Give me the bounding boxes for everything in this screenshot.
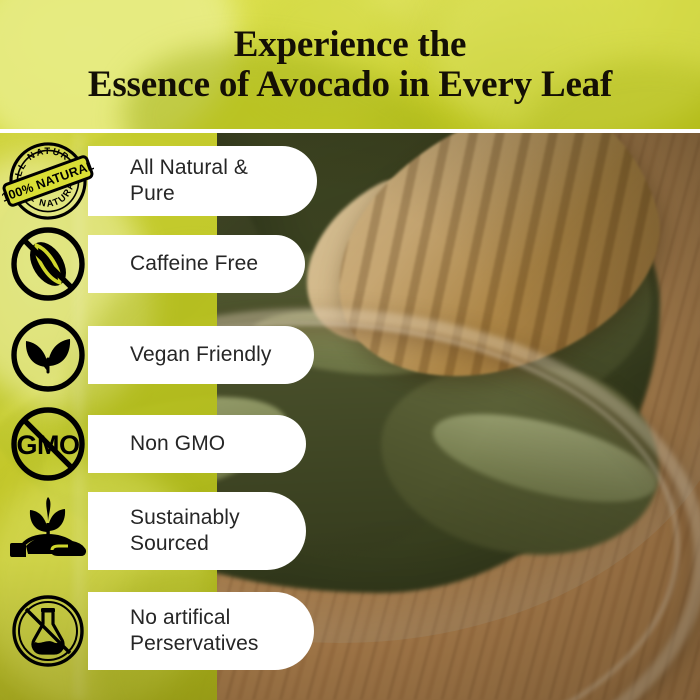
headline-line-2: Essence of Avocado in Every Leaf	[88, 65, 612, 104]
feature-list: ALL NATURAL ALL NATURAL 100% NATURAL All…	[0, 133, 700, 700]
feature-label: Caffeine Free	[130, 251, 258, 277]
feature-label: Sustainably Sourced	[130, 505, 240, 556]
feature-pill[interactable]: Non GMO	[88, 415, 306, 473]
feature-label: Non GMO	[130, 431, 225, 457]
feature-pill[interactable]: Caffeine Free	[88, 235, 305, 293]
feature-row-non-gmo[interactable]: GMO Non GMO	[0, 398, 330, 490]
feature-pill[interactable]: All Natural & Pure	[88, 146, 317, 215]
leaves-circle-icon	[0, 309, 96, 401]
feature-row-no-preservatives[interactable]: No artifical Perservatives	[0, 585, 330, 677]
headline-line-1: Experience the	[234, 25, 467, 64]
feature-label: Vegan Friendly	[130, 342, 272, 368]
feature-pill[interactable]: Vegan Friendly	[88, 326, 314, 384]
feature-label: No artifical Perservatives	[130, 605, 259, 656]
feature-row-vegan-friendly[interactable]: Vegan Friendly	[0, 309, 330, 401]
feature-label: All Natural & Pure	[130, 155, 295, 206]
all-natural-stamp-icon: ALL NATURAL ALL NATURAL 100% NATURAL	[0, 135, 96, 227]
no-coffee-bean-icon	[0, 218, 96, 310]
page-title: Experience the Essence of Avocado in Eve…	[0, 0, 700, 129]
feature-row-sustainably-sourced[interactable]: Sustainably Sourced	[0, 485, 330, 577]
hand-holding-plant-icon	[0, 485, 96, 577]
feature-pill[interactable]: Sustainably Sourced	[88, 492, 306, 570]
feature-row-all-natural[interactable]: ALL NATURAL ALL NATURAL 100% NATURAL All…	[0, 135, 330, 227]
feature-row-caffeine-free[interactable]: Caffeine Free	[0, 218, 330, 310]
feature-pill[interactable]: No artifical Perservatives	[88, 592, 314, 670]
no-gmo-icon: GMO	[0, 398, 96, 490]
product-benefits-poster: Experience the Essence of Avocado in Eve…	[0, 0, 700, 700]
no-flask-icon	[0, 585, 96, 677]
